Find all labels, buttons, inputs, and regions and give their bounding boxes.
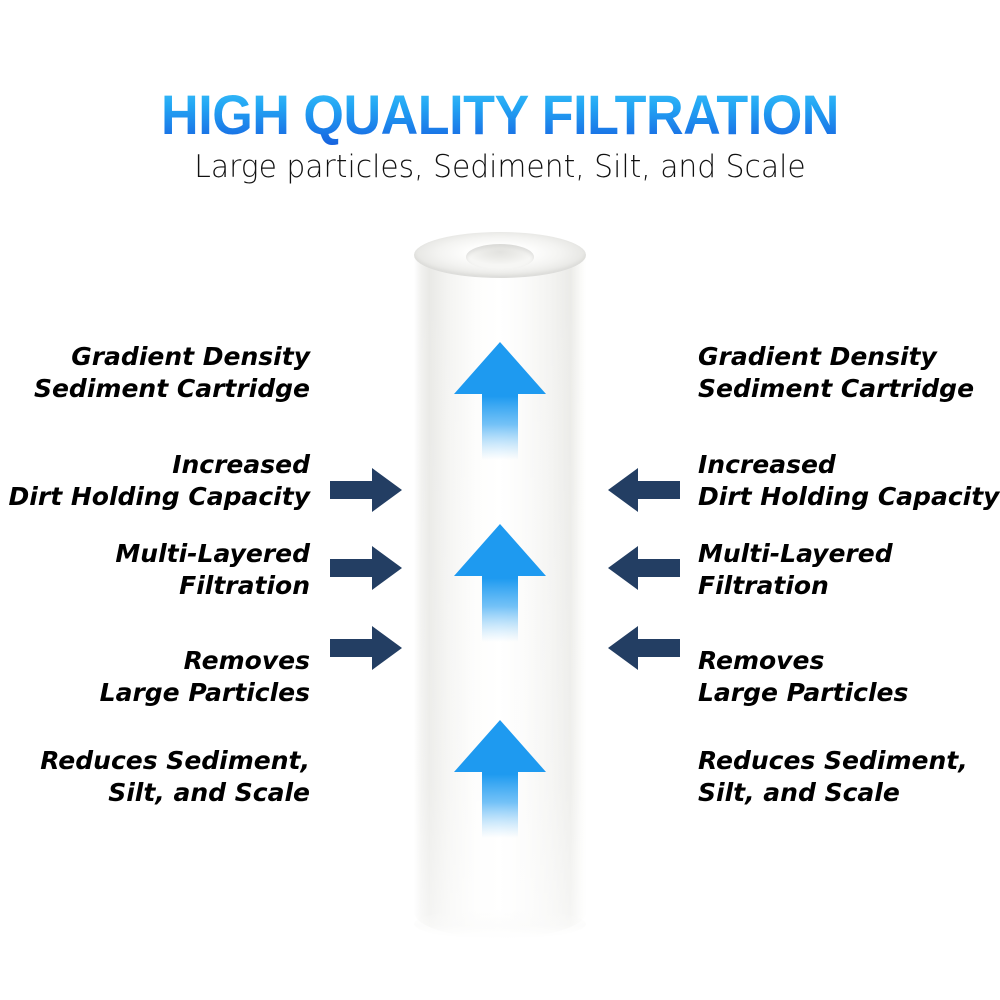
label-right-reduces-sediment-silt-and-scale: Reduces Sediment, Silt, and Scale bbox=[698, 745, 968, 809]
flow-arrow-icon-middle bbox=[454, 524, 546, 642]
label-line: Increased bbox=[698, 449, 999, 481]
label-left-removes-large-particles: Removes Large Particles bbox=[100, 645, 310, 709]
pointer-arrow-right-icon-1 bbox=[330, 468, 402, 512]
label-line: Removes bbox=[100, 645, 310, 677]
label-line: Filtration bbox=[698, 570, 893, 602]
page-title: HIGH QUALITY FILTRATION bbox=[35, 84, 965, 146]
label-line: Multi-Layered bbox=[115, 538, 310, 570]
label-line: Sediment Cartridge bbox=[34, 373, 310, 405]
label-line: Large Particles bbox=[100, 677, 310, 709]
label-right-gradient-density-sediment-cartridge: Gradient Density Sediment Cartridge bbox=[698, 341, 974, 405]
flow-arrow-icon-top bbox=[454, 342, 546, 460]
pointer-arrow-left-icon-2 bbox=[608, 546, 680, 590]
label-line: Reduces Sediment, bbox=[40, 745, 310, 777]
label-right-increased-dirt-holding-capacity: Increased Dirt Holding Capacity bbox=[698, 449, 999, 513]
label-line: Dirt Holding Capacity bbox=[698, 481, 999, 513]
label-line: Gradient Density bbox=[34, 341, 310, 373]
label-left-reduces-sediment-silt-and-scale: Reduces Sediment, Silt, and Scale bbox=[40, 745, 310, 809]
cartridge-bottom-edge bbox=[414, 909, 586, 939]
label-right-multi-layered-filtration: Multi-Layered Filtration bbox=[698, 538, 893, 602]
pointer-arrow-left-icon-1 bbox=[608, 468, 680, 512]
label-line: Large Particles bbox=[698, 677, 908, 709]
page-subtitle: Large particles, Sediment, Silt, and Sca… bbox=[20, 148, 980, 186]
pointer-arrow-right-icon-2 bbox=[330, 546, 402, 590]
label-line: Reduces Sediment, bbox=[698, 745, 968, 777]
label-line: Multi-Layered bbox=[698, 538, 893, 570]
label-left-gradient-density-sediment-cartridge: Gradient Density Sediment Cartridge bbox=[34, 341, 310, 405]
label-line: Dirt Holding Capacity bbox=[9, 481, 310, 513]
infographic-canvas: HIGH QUALITY FILTRATION Large particles,… bbox=[0, 0, 1000, 1000]
pointer-arrow-left-icon-3 bbox=[608, 626, 680, 670]
label-line: Gradient Density bbox=[698, 341, 974, 373]
label-line: Sediment Cartridge bbox=[698, 373, 974, 405]
label-right-removes-large-particles: Removes Large Particles bbox=[698, 645, 908, 709]
label-line: Silt, and Scale bbox=[40, 777, 310, 809]
pointer-arrow-right-icon-3 bbox=[330, 626, 402, 670]
label-line: Silt, and Scale bbox=[698, 777, 968, 809]
label-left-increased-dirt-holding-capacity: Increased Dirt Holding Capacity bbox=[9, 449, 310, 513]
label-line: Removes bbox=[698, 645, 908, 677]
cartridge-center-hole bbox=[466, 244, 534, 270]
flow-arrow-icon-bottom bbox=[454, 720, 546, 838]
label-left-multi-layered-filtration: Multi-Layered Filtration bbox=[115, 538, 310, 602]
label-line: Increased bbox=[9, 449, 310, 481]
label-line: Filtration bbox=[115, 570, 310, 602]
